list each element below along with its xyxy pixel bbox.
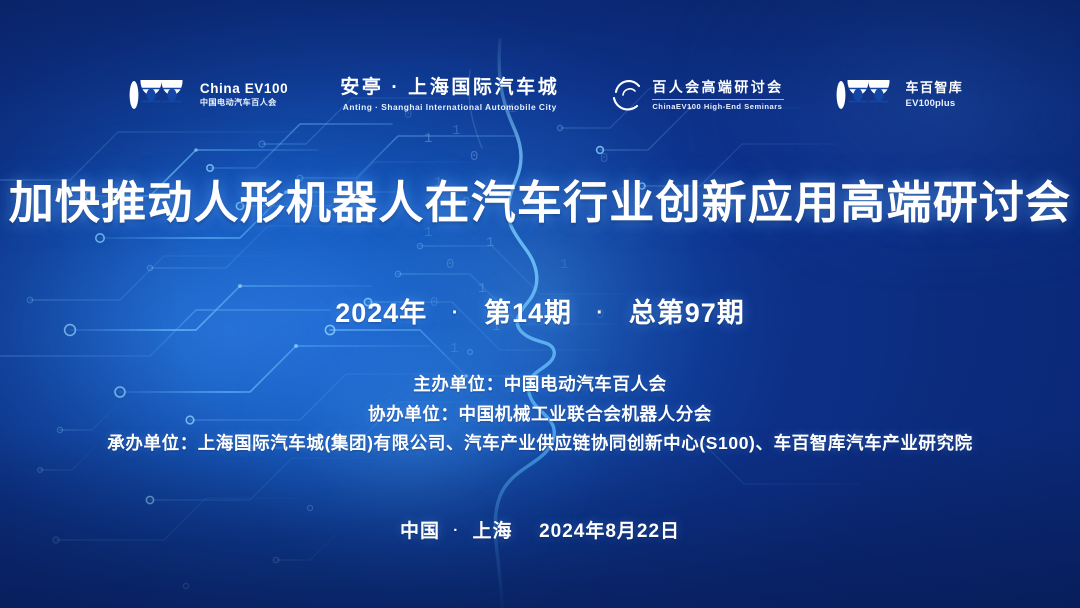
organizers-block: 主办单位：中国电动汽车百人会 协办单位：中国机械工业联合会机器人分会 承办单位：… xyxy=(0,376,1080,453)
issue-number: 第14期 xyxy=(484,298,572,328)
logo-china-ev100-name-cn: 中国电动汽车百人会 xyxy=(200,98,288,109)
logo-anting-shanghai: 安亭 · 上海国际汽车城 Anting · Shanghai Internati… xyxy=(340,67,559,123)
logo-seminars-divider xyxy=(652,99,783,100)
logo-ev100plus-name-cn: 车百智库 xyxy=(906,81,964,96)
seminar-swoosh-icon xyxy=(611,78,645,112)
logo-ev100plus-name-en: EV100plus xyxy=(906,98,964,109)
footer-city: 上海 xyxy=(473,521,513,542)
location-date-line: 中国 · 上海 2024年8月22日 xyxy=(0,516,1080,543)
logo-anting-name-en: Anting · Shanghai International Automobi… xyxy=(343,102,557,112)
logo-china-ev100: China EV100 中国电动汽车百人会 xyxy=(127,67,288,123)
issue-total: 总第97期 xyxy=(629,298,745,328)
ev100plus-infinity-icon xyxy=(834,80,898,110)
logo-seminars-name-cn: 百人会高端研讨会 xyxy=(652,79,783,95)
footer-date: 2024年8月22日 xyxy=(539,521,680,542)
ev100-infinity-icon xyxy=(127,80,191,110)
logo-bar: China EV100 中国电动汽车百人会 安亭 · 上海国际汽车城 Antin… xyxy=(0,62,1080,128)
issue-line: 2024年 · 第14期 · 总第97期 xyxy=(0,291,1080,330)
conference-poster: 1 1 0 1 0 1 1 0 1 0 1 1 0 1 0 0 1 1 0 xyxy=(0,0,1080,608)
footer-separator: · xyxy=(453,522,459,539)
footer-country: 中国 xyxy=(400,521,440,542)
organizer-co-host: 协办单位：中国机械工业联合会机器人分会 xyxy=(0,406,1080,424)
logo-anting-name-cn: 安亭 · 上海国际汽车城 xyxy=(340,78,559,99)
issue-separator-1: · xyxy=(452,302,460,325)
logo-china-ev100-text: China EV100 中国电动汽车百人会 xyxy=(200,81,288,109)
logo-seminars-name-en: ChinaEV100 High-End Seminars xyxy=(652,102,783,111)
organizer-undertaker: 承办单位：上海国际汽车城(集团)有限公司、汽车产业供应链协同创新中心(S100)… xyxy=(0,435,1080,453)
logo-ev100plus: 车百智库 EV100plus xyxy=(834,67,964,123)
page-title: 加快推动人形机器人在汽车行业创新应用高端研讨会 xyxy=(0,178,1080,228)
logo-high-end-seminars: 百人会高端研讨会 ChinaEV100 High-End Seminars xyxy=(611,67,783,123)
issue-separator-2: · xyxy=(597,302,605,325)
issue-year: 2024年 xyxy=(335,298,427,328)
organizer-host: 主办单位：中国电动汽车百人会 xyxy=(0,376,1080,394)
logo-china-ev100-name-en: China EV100 xyxy=(200,81,288,97)
